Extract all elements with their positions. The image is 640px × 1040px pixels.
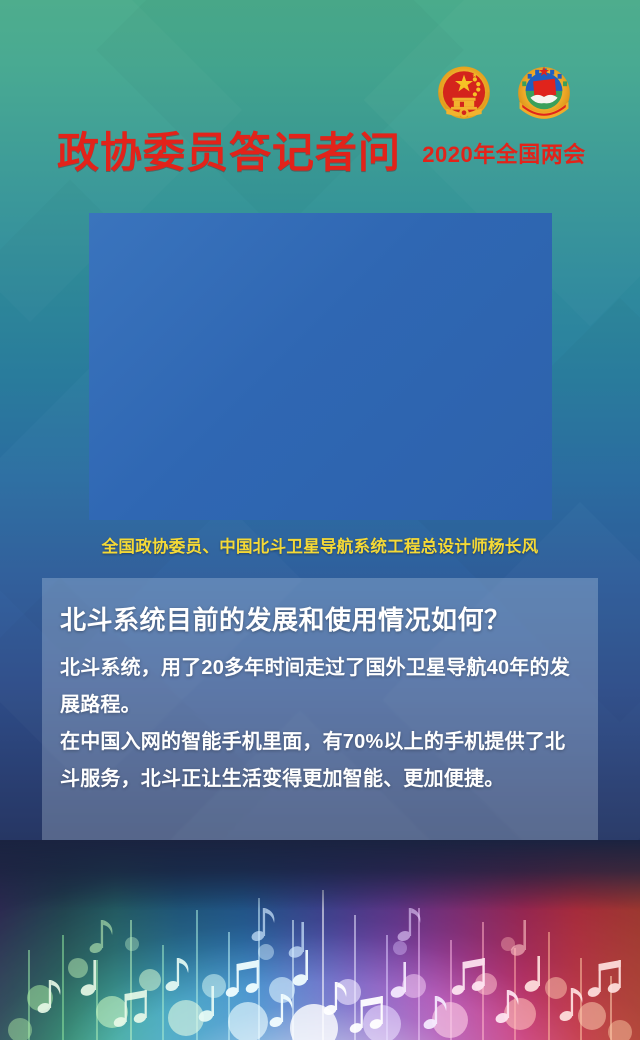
speaker-photo [89, 213, 552, 520]
question-text: 北斗系统目前的发展和使用情况如何？ [60, 600, 511, 637]
national-emblem-of-china-icon [430, 60, 498, 130]
poster-root: 政协委员答记者问 [0, 0, 640, 1040]
qa-panel: 北斗系统目前的发展和使用情况如何？ 北斗系统，用了20多年时间走过了国外卫星导航… [42, 578, 598, 840]
answer-paragraph: 北斗系统，用了20多年时间走过了国外卫星导航40年的发展路程。 [60, 650, 582, 724]
poster-header: 政协委员答记者问 [0, 0, 640, 200]
page-title: 政协委员答记者问 [57, 119, 401, 180]
cppcc-emblem-icon [510, 60, 578, 130]
answer-paragraph: 在中国入网的智能手机里面，有70%以上的手机提供了北斗服务，北斗正让生活变得更加… [60, 724, 582, 798]
photo-caption: 全国政协委员、中国北斗卫星导航系统工程总设计师杨长风 [0, 533, 640, 557]
emblem-group [420, 58, 588, 130]
photo-backdrop [89, 213, 552, 520]
music-band-top-fade [0, 840, 640, 910]
session-label: 2020年全国两会 [420, 137, 588, 169]
music-notes-banner [0, 840, 640, 1040]
answer-list: 北斗系统，用了20多年时间走过了国外卫星导航40年的发展路程。 在中国入网的智能… [60, 650, 582, 798]
